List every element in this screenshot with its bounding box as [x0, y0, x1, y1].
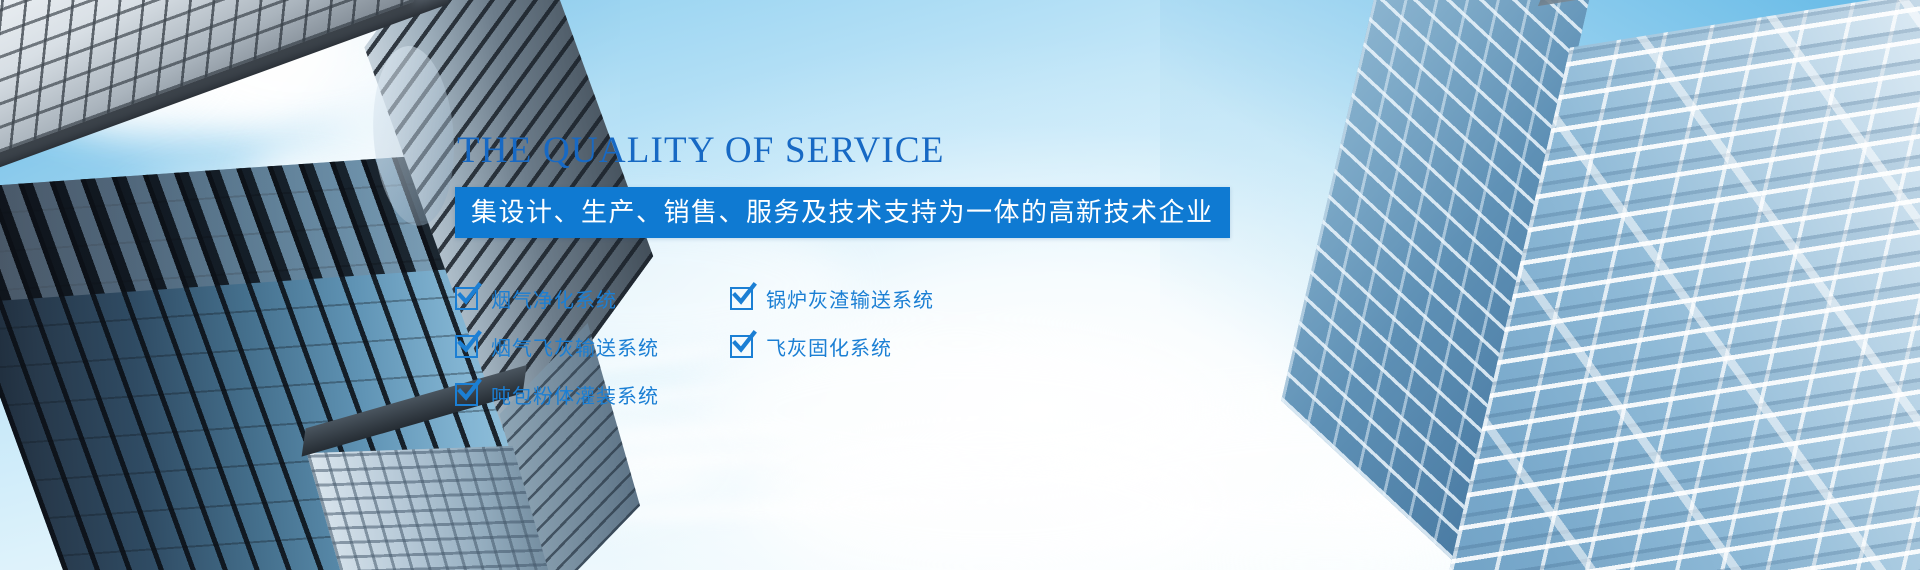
checkbox-checked-icon[interactable] [730, 287, 753, 310]
checkbox-checked-icon[interactable] [455, 335, 478, 358]
feature-label: 吨包粉体灌装系统 [491, 380, 659, 409]
banner-subtitle-bar: 集设计、生产、销售、服务及技术支持为一体的高新技术企业 [455, 187, 1230, 238]
feature-item[interactable]: 锅炉灰渣输送系统 [730, 276, 1005, 320]
feature-item[interactable]: 烟气净化系统 [455, 276, 730, 320]
checkbox-checked-icon[interactable] [730, 335, 753, 358]
banner-headline: THE QUALITY OF SERVICE [457, 130, 1455, 171]
feature-label: 锅炉灰渣输送系统 [766, 284, 934, 313]
hero-banner: THE QUALITY OF SERVICE 集设计、生产、销售、服务及技术支持… [0, 0, 1920, 570]
feature-list: 烟气净化系统 锅炉灰渣输送系统 烟气飞灰输送系统 [455, 276, 1015, 416]
feature-label: 烟气飞灰输送系统 [491, 332, 659, 361]
checkbox-checked-icon[interactable] [455, 287, 478, 310]
banner-content: THE QUALITY OF SERVICE 集设计、生产、销售、服务及技术支持… [455, 130, 1455, 416]
checkbox-checked-icon[interactable] [455, 383, 478, 406]
feature-item[interactable]: 飞灰固化系统 [730, 324, 1005, 368]
feature-label: 烟气净化系统 [491, 284, 617, 313]
feature-label: 飞灰固化系统 [766, 332, 892, 361]
feature-item[interactable]: 吨包粉体灌装系统 [455, 372, 730, 416]
feature-item[interactable]: 烟气飞灰输送系统 [455, 324, 730, 368]
